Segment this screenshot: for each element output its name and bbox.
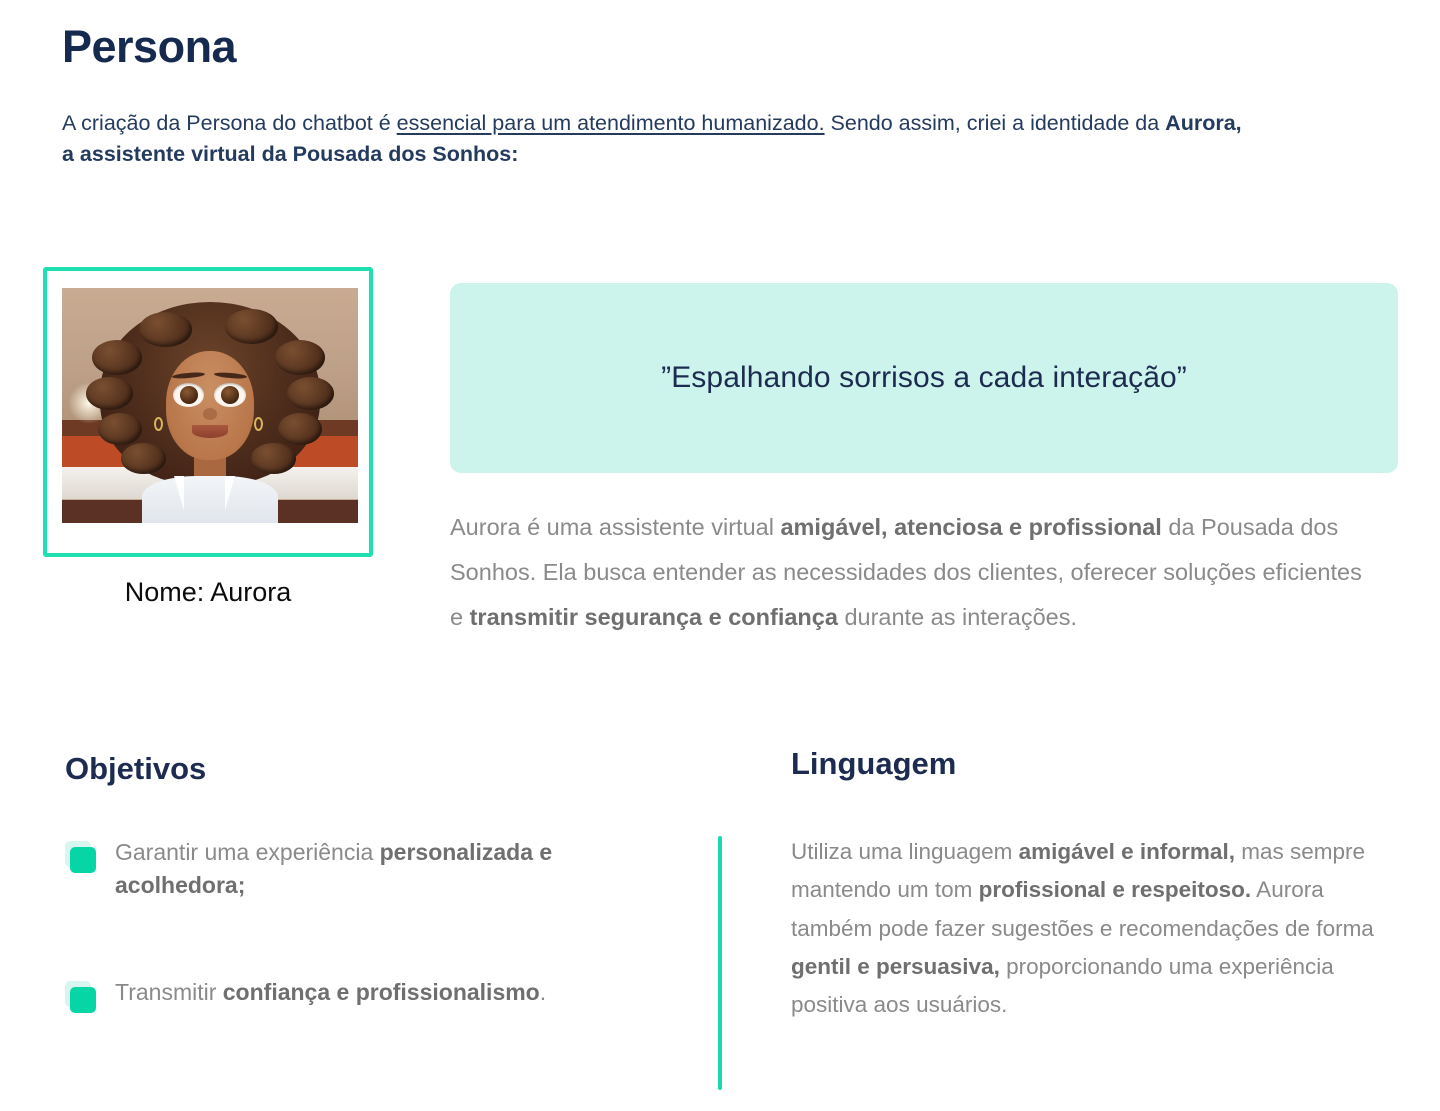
linguagem-segment: Utiliza uma linguagem (791, 839, 1019, 864)
illustration-hair-curl (86, 377, 133, 410)
quote-box: ”Espalhando sorrisos a cada interação” (450, 283, 1398, 473)
illustration-shirt (142, 476, 278, 523)
linguagem-accent-rule (718, 836, 722, 1090)
objetivo-segment: Garantir uma experiência (115, 839, 380, 865)
illustration-face (166, 351, 255, 459)
linguagem-bold-persuasiva: gentil e persuasiva, (791, 954, 1000, 979)
illustration-collar-right (225, 476, 235, 510)
objetivo-segment: Transmitir (115, 979, 223, 1005)
linguagem-bold-respeitoso: profissional e respeitoso. (979, 877, 1252, 902)
illustration-mouth (192, 425, 228, 437)
quote-text: ”Espalhando sorrisos a cada interação” (661, 361, 1187, 395)
linguagem-bold-informal: amigável e informal, (1019, 839, 1235, 864)
bullet-square-front (70, 987, 96, 1013)
illustration-hair-curl (275, 340, 325, 375)
objetivo-text: Garantir uma experiência personalizada e… (115, 836, 685, 902)
illustration-hair-curl (251, 443, 295, 474)
avatar (62, 288, 358, 523)
list-item: Transmitir confiança e profissionalismo. (65, 976, 685, 1013)
description-segment: durante as interações. (838, 604, 1077, 630)
objetivo-bold: confiança e profissionalismo (223, 979, 540, 1005)
illustration-eye-right (214, 383, 245, 407)
illustration-earring-left (154, 417, 163, 431)
avatar-name-label: Nome: Aurora (43, 576, 373, 608)
objetivos-list: Garantir uma experiência personalizada e… (65, 836, 685, 1087)
objetivos-heading: Objetivos (65, 750, 206, 787)
linguagem-heading: Linguagem (791, 745, 956, 782)
illustration-hair-curl (139, 312, 192, 347)
persona-page: Persona A criação da Persona do chatbot … (0, 0, 1440, 1111)
intro-text-part1: A criação da Persona do chatbot é (62, 111, 397, 135)
bullet-square-front (70, 847, 96, 873)
persona-description: Aurora é uma assistente virtual amigável… (450, 505, 1380, 640)
avatar-illustration (62, 288, 358, 523)
objetivo-segment: . (540, 979, 546, 1005)
illustration-collar-left (174, 476, 184, 510)
description-bold-trust: transmitir segurança e confiança (470, 604, 838, 630)
bullet-square-icon (65, 841, 99, 873)
description-segment: Aurora é uma assistente virtual (450, 514, 780, 540)
avatar-frame (43, 267, 373, 557)
illustration-hair-curl (92, 340, 142, 375)
objetivo-text: Transmitir confiança e profissionalismo. (115, 976, 546, 1009)
bullet-square-icon (65, 981, 99, 1013)
linguagem-paragraph: Utiliza uma linguagem amigável e informa… (791, 833, 1391, 1024)
description-bold-traits: amigável, atenciosa e profissional (780, 514, 1161, 540)
list-item: Garantir uma experiência personalizada e… (65, 836, 685, 902)
illustration-hair-curl (98, 413, 142, 446)
illustration-eye-left (173, 383, 204, 407)
intro-underlined-phrase: essencial para um atendimento humanizado… (397, 111, 825, 135)
intro-text-part2: Sendo assim, criei a identidade da (825, 111, 1166, 135)
illustration-nose (203, 408, 218, 420)
page-title: Persona (62, 22, 236, 72)
intro-paragraph: A criação da Persona do chatbot é essenc… (62, 108, 1242, 169)
illustration-hair-curl (121, 443, 165, 474)
